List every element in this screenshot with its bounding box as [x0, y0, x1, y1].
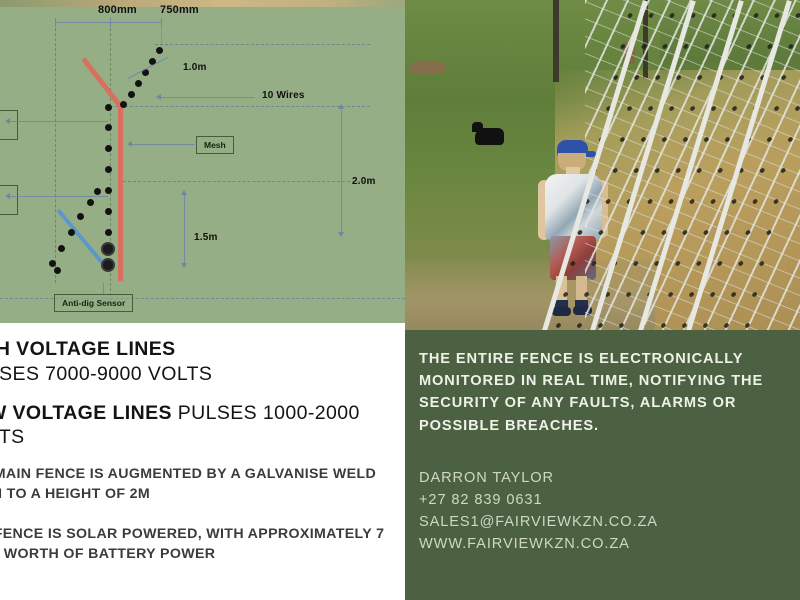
paragraph-weld-mesh: THE MAIN FENCE IS AUGMENTED BY A GALVANI… [0, 464, 390, 504]
wire-dot [156, 47, 163, 54]
mesh-leader [130, 144, 195, 145]
guide-vertical-left [55, 18, 56, 283]
wire-dot [105, 208, 112, 215]
dimension-750mm: 750mm [160, 4, 199, 16]
annotation-high-voltage-box [0, 110, 18, 140]
dimension-1_5m-arrow-top [181, 190, 187, 195]
diagram-top-strip [0, 0, 405, 7]
headline-high-voltage: HIGH VOLTAGE LINESPULSES 7000-9000 VOLTS [0, 337, 390, 387]
wire-dot [54, 267, 61, 274]
contact-block: DARRON TAYLOR +27 82 839 0631 SALES1@FAI… [419, 467, 791, 556]
wire-dot [105, 124, 112, 131]
annotation-mesh: Mesh [196, 136, 234, 154]
dimension-1_5m-arrow-bottom [181, 263, 187, 268]
wire-dot [120, 101, 127, 108]
top-dimension-tick-left [55, 18, 56, 27]
wires-leader [160, 97, 255, 98]
wire-dot [94, 188, 101, 195]
wire-dot [68, 229, 75, 236]
low-voltage-leader [8, 196, 108, 197]
high-voltage-leader [8, 121, 108, 122]
fence-photo [405, 0, 800, 330]
anti-dig-coil [101, 242, 115, 256]
headline-monitoring: THE ENTIRE FENCE IS ELECTRONICALLY MONIT… [419, 348, 791, 437]
annotation-anti-dig-sensor: Anti-dig Sensor [54, 294, 133, 312]
fence-diagram: 800mm 750mm [0, 0, 405, 323]
dimension-2m-arrow-top [338, 104, 344, 109]
wires-arrowhead [156, 94, 161, 100]
right-text-inner: THE ENTIRE FENCE IS ELECTRONICALLY MONIT… [419, 348, 791, 555]
wire-dot [105, 187, 112, 194]
contact-email[interactable]: SALES1@FAIRVIEWKZN.CO.ZA [419, 511, 791, 533]
wire-dot [135, 80, 142, 87]
headline-high-voltage-rest: PULSES 7000-9000 VOLTS [0, 363, 212, 385]
dimension-2m-arrow-bottom [338, 232, 344, 237]
contact-name: DARRON TAYLOR [419, 467, 791, 489]
top-dimension-tick-right [161, 18, 162, 27]
wire-dot [77, 213, 84, 220]
wire-dot [128, 91, 135, 98]
headline-low-voltage-strong: LOW VOLTAGE LINES [0, 402, 172, 424]
annotation-10-wires: 10 Wires [262, 90, 305, 101]
contact-phone[interactable]: +27 82 839 0631 [419, 489, 791, 511]
paragraph-solar-power: THE FENCE IS SOLAR POWERED, WITH APPROXI… [0, 524, 390, 564]
photo-fence-post-left [553, 0, 559, 82]
contact-website[interactable]: WWW.FAIRVIEWKZN.CO.ZA [419, 533, 791, 555]
right-text-panel: THE ENTIRE FENCE IS ELECTRONICALLY MONIT… [405, 330, 800, 600]
guide-horizontal-top [155, 44, 370, 45]
dimension-label-1m: 1.0m [183, 62, 207, 73]
dimension-leader-1m [128, 57, 168, 79]
low-voltage-arrowhead [5, 193, 10, 199]
wire-dot [49, 260, 56, 267]
photo-rock [410, 62, 446, 74]
top-dimension-bar [55, 22, 162, 23]
left-text-panel: HIGH VOLTAGE LINESPULSES 7000-9000 VOLTS… [0, 323, 405, 600]
wire-dot [105, 229, 112, 236]
wire-dot [87, 199, 94, 206]
top-dimension-tick-mid [110, 18, 111, 27]
guide-horizontal-wires [110, 106, 370, 107]
mesh-arrowhead [127, 141, 132, 147]
high-voltage-arrowhead [5, 118, 10, 124]
poster-canvas: 800mm 750mm [0, 0, 800, 600]
headline-low-voltage: LOW VOLTAGE LINES PULSES 1000-2000 VOLTS [0, 401, 390, 451]
anti-dig-coil [101, 258, 115, 272]
guide-horizontal-mid [118, 181, 370, 182]
annotation-low-voltage-box [0, 185, 18, 215]
dimension-2m-line [341, 106, 342, 236]
dimension-800mm: 800mm [98, 4, 137, 16]
dimension-label-1_5m: 1.5m [194, 232, 218, 243]
wire-dot [105, 104, 112, 111]
wire-dot [105, 145, 112, 152]
left-text-inner: HIGH VOLTAGE LINESPULSES 7000-9000 VOLTS… [0, 337, 390, 585]
dimension-1_5m-line [184, 192, 185, 267]
wire-dot [105, 166, 112, 173]
photo-cat [475, 128, 504, 145]
dimension-label-2m: 2.0m [352, 176, 376, 187]
wire-dot [58, 245, 65, 252]
headline-high-voltage-strong: HIGH VOLTAGE LINES [0, 338, 176, 360]
high-voltage-main-post [118, 103, 123, 281]
